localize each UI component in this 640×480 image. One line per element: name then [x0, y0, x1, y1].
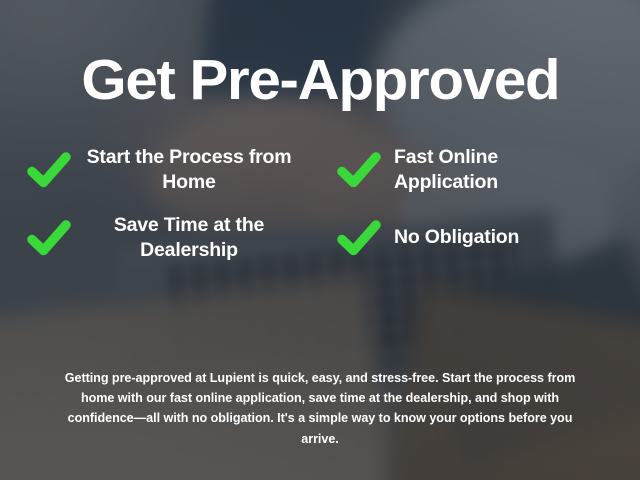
promo-banner: Get Pre-Approved Start the Process from … — [0, 0, 640, 480]
feature-label: Save Time at the Dealership — [84, 213, 294, 263]
page-title: Get Pre-Approved — [81, 52, 559, 109]
feature-label: Fast Online Application — [394, 145, 604, 195]
feature-label: Start the Process from Home — [84, 145, 294, 195]
feature-item-save-time: Save Time at the Dealership — [20, 213, 320, 263]
feature-item-fast-online: Fast Online Application — [320, 145, 620, 195]
check-icon — [26, 217, 72, 259]
banner-content: Get Pre-Approved Start the Process from … — [0, 0, 640, 480]
feature-item-no-obligation: No Obligation — [320, 213, 620, 263]
feature-label: No Obligation — [394, 225, 519, 250]
description-paragraph: Getting pre-approved at Lupient is quick… — [48, 368, 593, 450]
check-icon — [336, 149, 382, 191]
check-icon — [26, 149, 72, 191]
check-icon — [336, 217, 382, 259]
feature-item-start-process: Start the Process from Home — [20, 145, 320, 195]
feature-list: Start the Process from Home Fast Online … — [20, 145, 620, 263]
